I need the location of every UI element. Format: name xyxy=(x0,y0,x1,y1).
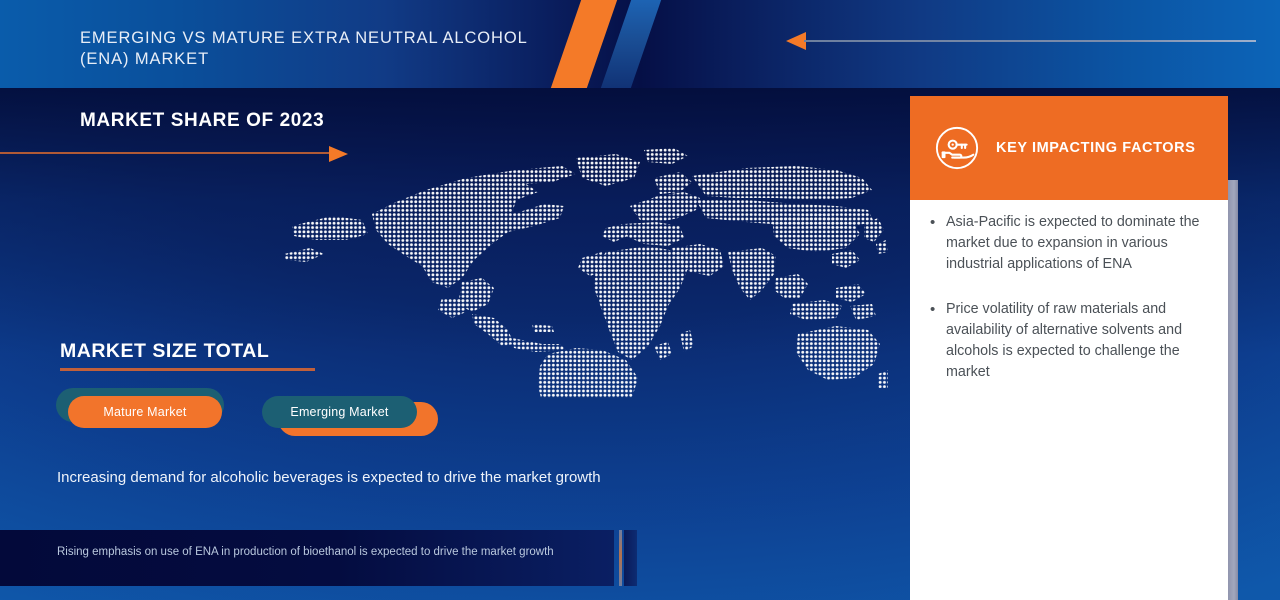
secondary-note-text: Rising emphasis on use of ENA in product… xyxy=(57,545,597,560)
market-size-legend: Mature Market Emerging Market xyxy=(56,388,476,440)
market-share-arrow-line xyxy=(0,152,330,154)
secondary-note-accent-line xyxy=(619,530,622,586)
bullet-icon: • xyxy=(930,212,946,275)
header-left-arrow xyxy=(786,32,1256,50)
list-item: • Asia-Pacific is expected to dominate t… xyxy=(930,212,1212,275)
page-title: EMERGING VS MATURE EXTRA NEUTRAL ALCOHOL… xyxy=(80,28,600,70)
key-factors-header: KEY IMPACTING FACTORS xyxy=(910,96,1228,200)
mature-market-badge-label: Mature Market xyxy=(103,405,186,419)
market-size-underline xyxy=(60,368,315,371)
header-bar: EMERGING VS MATURE EXTRA NEUTRAL ALCOHOL… xyxy=(0,0,1280,88)
key-factor-text: Price volatility of raw materials and av… xyxy=(946,299,1212,383)
key-factor-text: Asia-Pacific is expected to dominate the… xyxy=(946,212,1212,275)
infographic-slide: EMERGING VS MATURE EXTRA NEUTRAL ALCOHOL… xyxy=(0,0,1280,600)
hand-holding-key-icon xyxy=(934,125,980,171)
left-arrow-icon xyxy=(786,32,806,50)
bullet-icon: • xyxy=(930,299,946,383)
market-share-arrow xyxy=(0,146,348,162)
lead-statement: Increasing demand for alcoholic beverage… xyxy=(57,468,637,488)
mature-market-badge[interactable]: Mature Market xyxy=(68,396,222,428)
key-factors-card-shadow xyxy=(1228,180,1238,600)
key-factors-heading: KEY IMPACTING FACTORS xyxy=(996,140,1196,156)
right-arrow-icon xyxy=(329,146,348,162)
market-size-title: MARKET SIZE TOTAL xyxy=(60,340,269,363)
key-factors-list: • Asia-Pacific is expected to dominate t… xyxy=(930,212,1212,407)
dotted-world-map xyxy=(276,148,888,398)
header-arrow-line xyxy=(804,40,1256,42)
market-share-section: MARKET SHARE OF 2023 xyxy=(0,110,350,160)
page-title-line-2: (ENA) MARKET xyxy=(80,49,600,70)
emerging-market-badge[interactable]: Emerging Market xyxy=(262,396,417,428)
list-item: • Price volatility of raw materials and … xyxy=(930,299,1212,383)
emerging-market-badge-label: Emerging Market xyxy=(290,405,388,419)
market-share-title: MARKET SHARE OF 2023 xyxy=(80,110,324,132)
page-title-line-1: EMERGING VS MATURE EXTRA NEUTRAL ALCOHOL xyxy=(80,28,600,49)
secondary-note-tail xyxy=(624,530,637,586)
